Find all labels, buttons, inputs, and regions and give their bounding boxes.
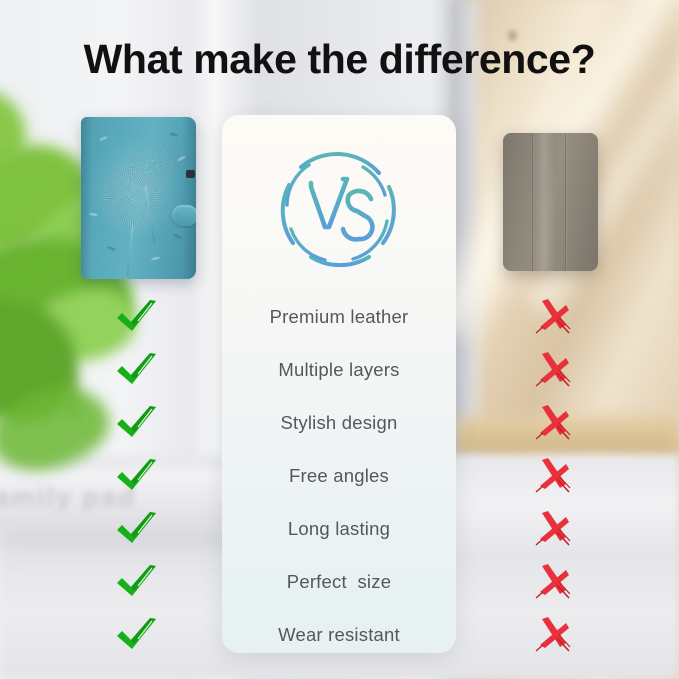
check-mark-row — [102, 343, 172, 396]
check-mark-row — [102, 555, 172, 608]
feature-label: Multiple layers — [278, 359, 399, 381]
feature-row: Premium leather — [222, 290, 456, 343]
check-icon — [114, 297, 160, 337]
dandelion-stalk — [126, 225, 133, 277]
check-mark-row — [102, 396, 172, 449]
feature-label: Long lasting — [288, 518, 390, 540]
page-title: What make the difference? — [0, 36, 679, 83]
infographic-canvas: amily pad What make the difference? — [0, 0, 679, 679]
cross-mark-row — [519, 502, 589, 555]
cross-mark-row — [519, 555, 589, 608]
feature-list: Premium leather Multiple layers Stylish … — [222, 290, 456, 661]
case-edge-shadow — [182, 117, 196, 279]
check-icon — [114, 562, 160, 602]
feature-row: Multiple layers — [222, 343, 456, 396]
cross-mark-row — [519, 449, 589, 502]
feature-row: Stylish design — [222, 396, 456, 449]
feature-label: Premium leather — [270, 306, 409, 328]
dandelion-seed — [169, 132, 178, 137]
right-product-mark-column — [519, 290, 589, 661]
cover-fold-line — [565, 133, 567, 271]
feature-label: Perfect size — [287, 571, 391, 593]
feature-label: Free angles — [289, 465, 389, 487]
feature-row: Long lasting — [222, 502, 456, 555]
cross-icon — [533, 455, 575, 497]
feature-row: Wear resistant — [222, 608, 456, 661]
vs-circle-icon — [271, 143, 407, 279]
dandelion-seed — [151, 256, 160, 261]
comparison-card: Premium leather Multiple layers Stylish … — [222, 115, 456, 653]
cross-icon — [533, 508, 575, 550]
check-mark-row — [102, 449, 172, 502]
check-mark-row — [102, 502, 172, 555]
cross-mark-row — [519, 290, 589, 343]
case-strap-closure — [172, 205, 196, 226]
cross-icon — [533, 349, 575, 391]
dandelion-seed — [107, 246, 116, 252]
cross-icon — [533, 402, 575, 444]
cover-gloss — [533, 133, 555, 271]
left-product-mark-column — [102, 290, 172, 661]
case-spine-shadow — [81, 117, 92, 279]
dandelion-seed — [173, 233, 182, 240]
feature-label: Wear resistant — [278, 624, 400, 646]
check-mark-row — [102, 608, 172, 661]
cross-mark-row — [519, 608, 589, 661]
cross-mark-row — [519, 396, 589, 449]
check-icon — [114, 350, 160, 390]
check-icon — [114, 403, 160, 443]
left-product-image — [81, 117, 196, 279]
feature-label: Stylish design — [281, 412, 398, 434]
cross-icon — [533, 561, 575, 603]
check-icon — [114, 509, 160, 549]
cover-fold-line — [532, 133, 534, 271]
feature-row: Free angles — [222, 449, 456, 502]
dandelion-emboss-icon — [129, 143, 175, 189]
dandelion-seed — [99, 135, 108, 141]
cross-mark-row — [519, 343, 589, 396]
right-product-image — [503, 133, 598, 271]
check-icon — [114, 615, 160, 655]
cross-icon — [533, 614, 575, 656]
cross-icon — [533, 296, 575, 338]
check-icon — [114, 456, 160, 496]
check-mark-row — [102, 290, 172, 343]
feature-row: Perfect size — [222, 555, 456, 608]
case-button — [186, 170, 195, 178]
